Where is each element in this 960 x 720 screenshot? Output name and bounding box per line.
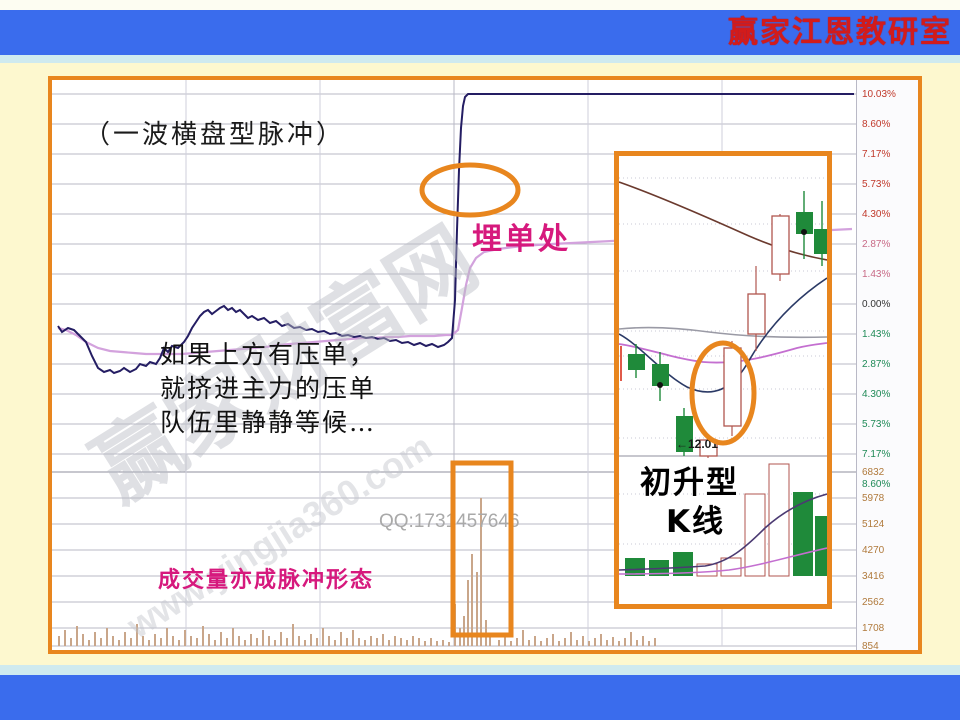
axis-tick: 10.03% [862, 90, 896, 100]
inset-title-line1: 初升型 [640, 464, 739, 503]
volume-tick: 5124 [862, 520, 884, 530]
axis-tick: 4.30% [862, 390, 890, 400]
axis-tick: 5.73% [862, 420, 890, 430]
axis-tick: 8.60% [862, 480, 890, 490]
price-axis: 10.03% 8.60% 7.17% 5.73% 4.30% 2.87% 1.4… [856, 80, 918, 650]
header-divider [0, 55, 960, 63]
footer-divider [0, 665, 960, 675]
explanation-text: 如果上方有压单， 就挤进主力的压单 队伍里静静等候… [160, 338, 376, 440]
axis-tick: 2.87% [862, 240, 890, 250]
axis-tick: 1.43% [862, 270, 890, 280]
axis-tick: 7.17% [862, 150, 890, 160]
explanation-line-2: 就挤进主力的压单 [160, 372, 376, 406]
inset-title: 初升型 K线 [640, 464, 739, 542]
volume-tick: 6832 [862, 468, 884, 478]
footer-bar [0, 675, 960, 720]
inset-date-tag: ←12.01 [676, 437, 718, 451]
axis-tick: 4.30% [862, 210, 890, 220]
axis-tick: 2.87% [862, 360, 890, 370]
volume-tick: 5978 [862, 494, 884, 504]
axis-tick: 0.00% [862, 300, 890, 310]
axis-tick: 7.17% [862, 450, 890, 460]
inset-title-line2: K线 [666, 503, 739, 542]
volume-tick: 4270 [862, 546, 884, 556]
axis-tick: 1.43% [862, 330, 890, 340]
volume-pattern-label: 成交量亦成脉冲形态 [158, 562, 374, 594]
volume-tick: 3416 [862, 572, 884, 582]
volume-tick: 1708 [862, 624, 884, 634]
explanation-line-1: 如果上方有压单， [160, 338, 376, 372]
qq-contact-label: QQ:1731457646 [379, 511, 520, 533]
header-bar: 赢家江恩教研室 [0, 10, 960, 55]
axis-tick: 8.60% [862, 120, 890, 130]
volume-tick: 854 [862, 642, 879, 650]
explanation-line-3: 队伍里静静等候… [160, 406, 376, 440]
pattern-title: （一波横盘型脉冲） [84, 114, 345, 151]
axis-tick: 5.73% [862, 180, 890, 190]
volume-tick: 2562 [862, 598, 884, 608]
slide-root: 赢家江恩教研室 [0, 0, 960, 720]
top-margin [0, 0, 960, 10]
page-title: 赢家江恩教研室 [728, 14, 952, 52]
entry-point-label: 埋单处 [472, 214, 571, 258]
